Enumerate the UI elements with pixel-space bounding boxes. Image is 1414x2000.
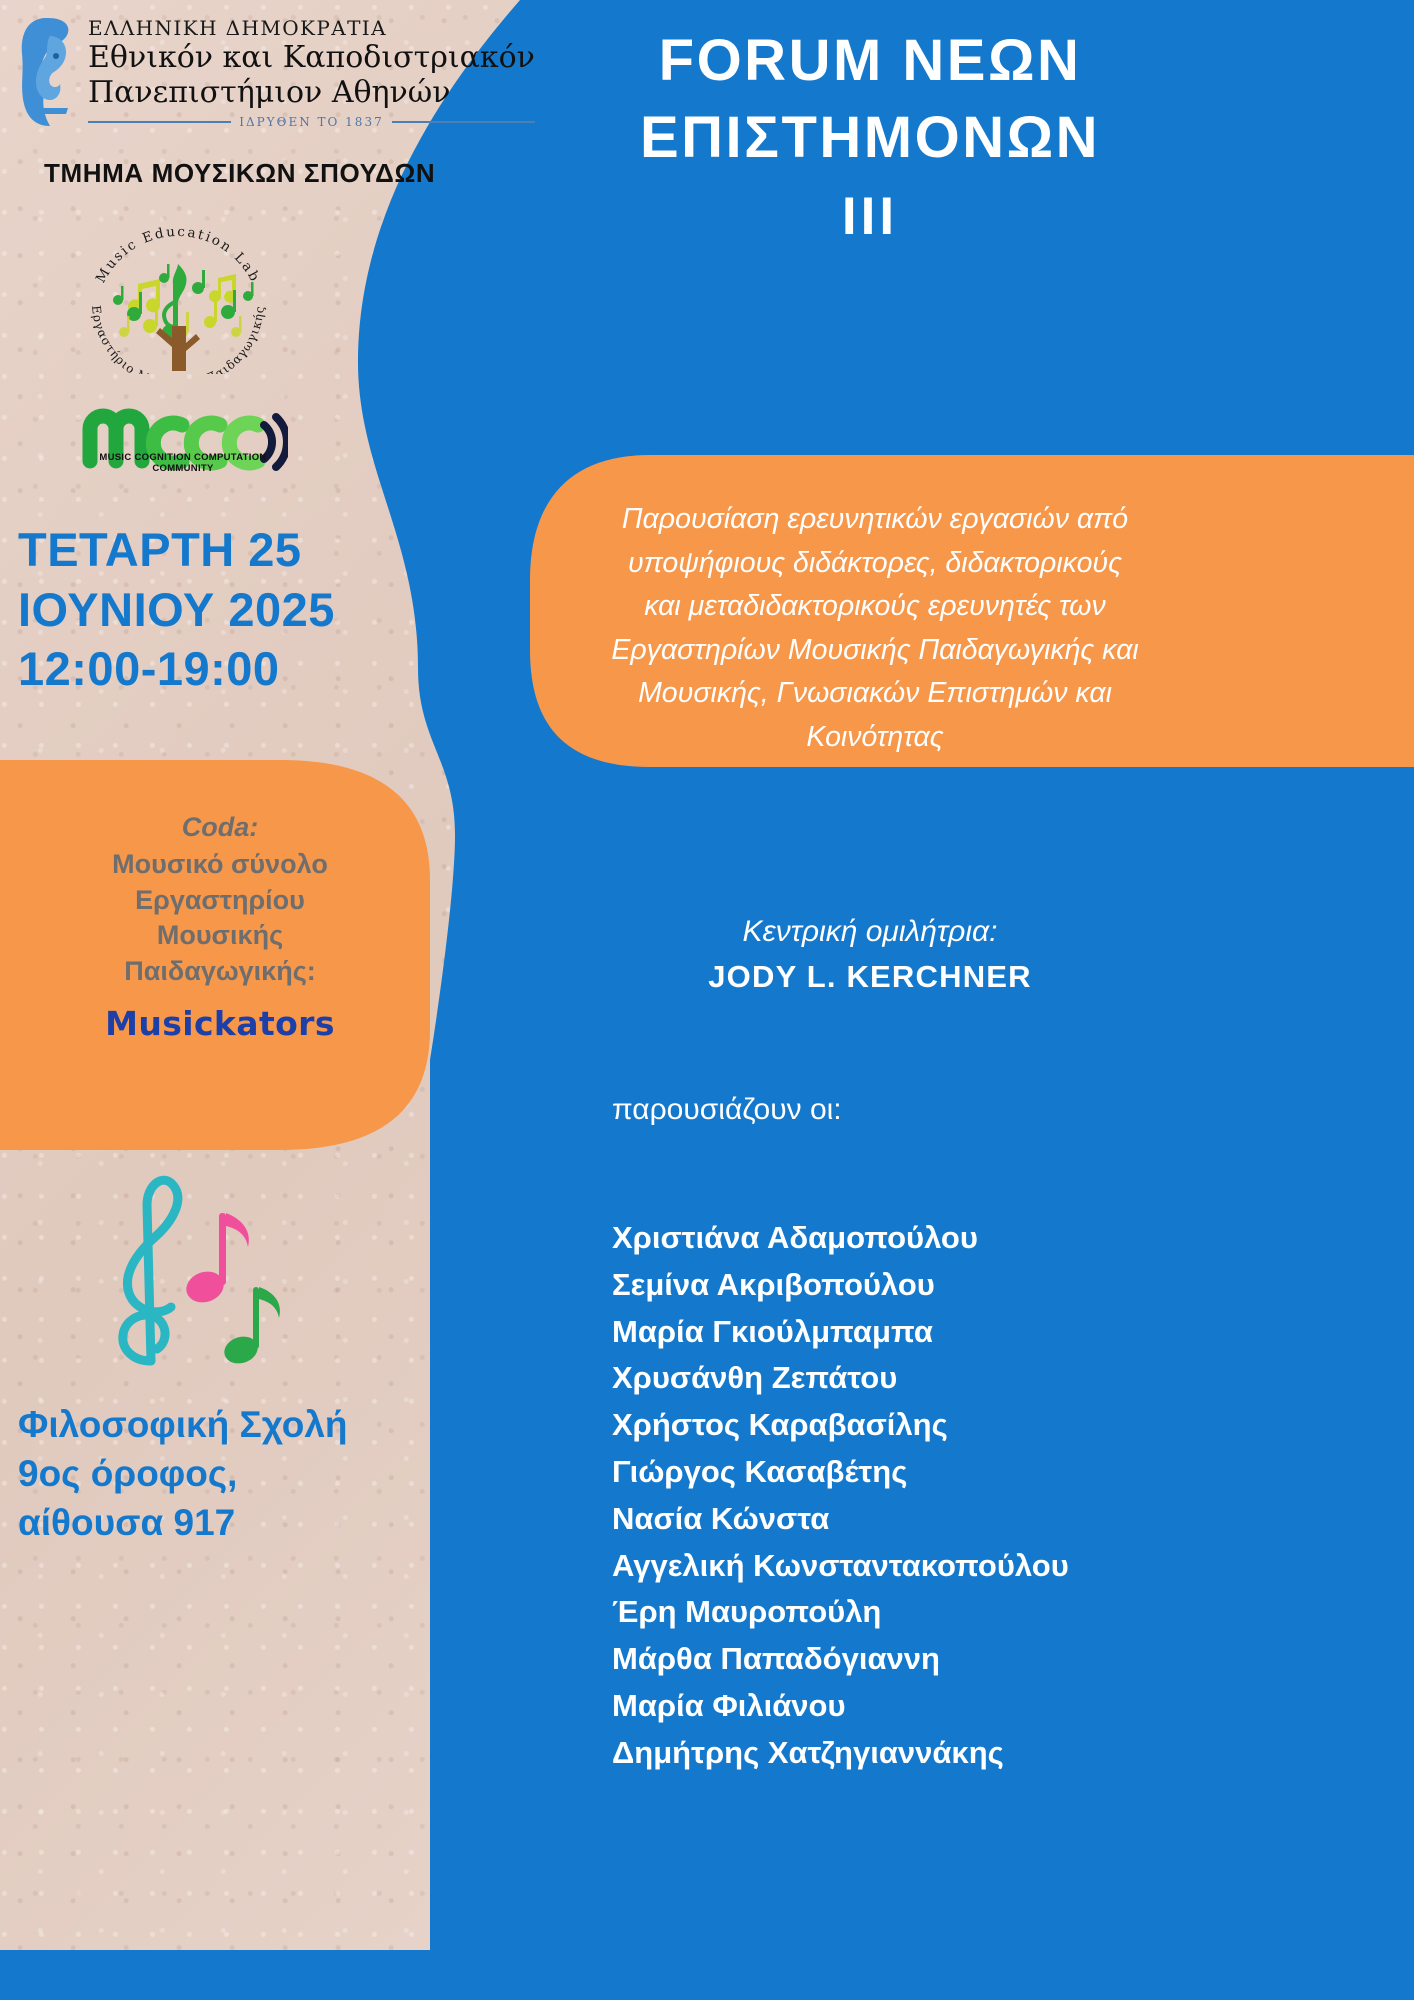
presenters-label: παρουσιάζουν οι: — [612, 1093, 842, 1127]
university-name-line-2: Πανεπιστήμιον Αθηνών — [88, 76, 535, 110]
description-line-2: υποψήφιους διδάκτορες, διδακτορικούς — [560, 542, 1190, 586]
description-text: Παρουσίαση ερευνητικών εργασιών από υποψ… — [560, 498, 1190, 760]
presenter-name: Σεμίνα Ακριβοπούλου — [612, 1262, 1402, 1309]
coda-line-1: Μουσικό σύνολο — [10, 847, 430, 883]
venue-line-2: 9ος όροφος, — [18, 1449, 438, 1498]
venue-line-1: Φιλοσοφική Σχολή — [18, 1400, 438, 1449]
founded-text: ΙΔΡΥΘΕΝ ΤΟ 1837 — [239, 115, 384, 129]
music-education-lab-logo: Music Education Lab Εργαστήριο Μουσικής … — [78, 222, 278, 374]
keynote-block: Κεντρική ομιλήτρια: JODY L. KERCHNER — [520, 915, 1220, 995]
venue-line-3: αίθουσα 917 — [18, 1498, 438, 1547]
description-line-4: Εργαστηρίων Μουσικής Παιδαγωγικής και — [560, 629, 1190, 673]
title-roman-numeral: III — [520, 182, 1220, 252]
event-date-line-1: ΤΕΤΑΡΤΗ 25 — [18, 520, 438, 580]
presenter-name: Χριστιάνα Αδαμοπούλου — [612, 1215, 1402, 1262]
coda-line-3: Μουσικής — [10, 918, 430, 954]
description-line-5: Μουσικής, Γνωσιακών Επιστημών και — [560, 672, 1190, 716]
description-line-3: και μεταδιδακτορικούς ερευνητές των — [560, 585, 1190, 629]
presenter-name: Έρη Μαυροπούλη — [612, 1589, 1402, 1636]
coda-label: Coda: — [10, 812, 430, 843]
presenter-name: Χρυσάνθη Ζεπάτου — [612, 1355, 1402, 1402]
university-founded-line: ΙΔΡΥΘΕΝ ΤΟ 1837 — [88, 115, 535, 129]
presenter-name: Αγγελική Κωνσταντακοπούλου — [612, 1543, 1402, 1590]
coda-block: Coda: Μουσικό σύνολο Εργαστηρίου Μουσική… — [10, 812, 430, 1043]
treble-clef-icon — [123, 1180, 178, 1361]
title-line-1: FORUM ΝΕΩΝ — [520, 22, 1220, 99]
pink-eighth-note-icon — [182, 1213, 249, 1307]
keynote-label: Κεντρική ομιλήτρια: — [520, 915, 1220, 949]
event-date-block: ΤΕΤΑΡΤΗ 25 ΙΟΥΝΙΟΥ 2025 12:00-19:00 — [18, 520, 438, 699]
presenter-name: Μαρία Φιλιάνου — [612, 1683, 1402, 1730]
university-logo-block: ΕΛΛΗΝΙΚΗ ΔΗΜΟΚΡΑΤΙΑ Εθνικόν και Καποδιστ… — [16, 12, 536, 147]
presenter-name: Νασία Κώνστα — [612, 1496, 1402, 1543]
venue-block: Φιλοσοφική Σχολή 9ος όροφος, αίθουσα 917 — [18, 1400, 438, 1548]
presenter-name: Χρήστος Καραβασίλης — [612, 1402, 1402, 1449]
coda-line-2: Εργαστηρίου — [10, 883, 430, 919]
music-notes-decoration — [85, 1165, 315, 1375]
ensemble-name: Musickators — [10, 1004, 430, 1043]
keynote-speaker-name: JODY L. KERCHNER — [520, 959, 1220, 995]
coda-line-4: Παιδαγωγικής: — [10, 954, 430, 990]
presenter-name: Γιώργος Κασαβέτης — [612, 1449, 1402, 1496]
rule-right — [392, 121, 535, 123]
presenter-name: Μάρθα Παπαδόγιαννη — [612, 1636, 1402, 1683]
mccc-tagline: MUSIC COGNITION COMPUTATION COMMUNITY — [78, 452, 288, 474]
event-date-line-2: ΙΟΥΝΙΟΥ 2025 — [18, 580, 438, 640]
description-line-6: Κοινότητας — [560, 716, 1190, 760]
coda-body: Μουσικό σύνολο Εργαστηρίου Μουσικής Παιδ… — [10, 847, 430, 990]
presenters-list: Χριστιάνα Αδαμοπούλου Σεμίνα Ακριβοπούλο… — [612, 1215, 1402, 1777]
rule-left — [88, 121, 231, 123]
university-country-line: ΕΛΛΗΝΙΚΗ ΔΗΜΟΚΡΑΤΙΑ — [88, 16, 535, 40]
poster-title: FORUM ΝΕΩΝ ΕΠΙΣΤΗΜΟΝΩΝ III — [520, 22, 1220, 253]
athena-seal-icon — [16, 12, 78, 130]
description-line-1: Παρουσίαση ερευνητικών εργασιών από — [560, 498, 1190, 542]
event-time: 12:00-19:00 — [18, 639, 438, 699]
university-name-line-1: Εθνικόν και Καποδιστριακόν — [88, 41, 535, 75]
title-line-2: ΕΠΙΣΤΗΜΟΝΩΝ — [520, 99, 1220, 176]
department-title: ΤΜΗΜΑ ΜΟΥΣΙΚΩΝ ΣΠΟΥΔΩΝ — [44, 158, 435, 189]
presenter-name: Μαρία Γκιούλμπαμπα — [612, 1309, 1402, 1356]
green-eighth-note-icon — [221, 1287, 280, 1368]
presenter-name: Δημήτρης Χατζηγιαννάκης — [612, 1730, 1402, 1777]
